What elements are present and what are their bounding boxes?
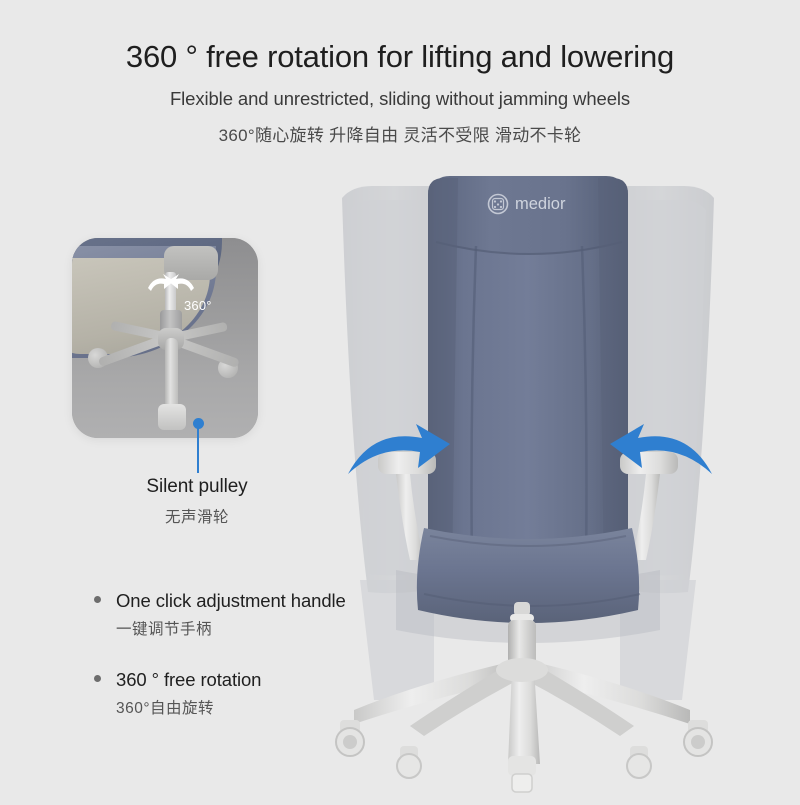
inset-caption-en: Silent pulley [72,476,322,498]
dual-rotation-arrows-icon [144,274,198,300]
subtitle-cn: 360°随心旋转 升降自由 灵活不受限 滑动不卡轮 [0,121,800,146]
caster [684,720,712,756]
rotation-degree-label: 360° [184,298,212,313]
page-title: 360 ° free rotation for lifting and lowe… [0,38,800,75]
feature-label-cn: 一键调节手柄 [116,617,394,639]
callout-line [197,428,199,473]
feature-label-en: One click adjustment handle [116,590,346,612]
bullet-dot-icon [94,675,101,682]
brand-name: medior [515,195,566,213]
callout-dot-icon [193,418,204,429]
chair-backrest [428,173,628,583]
header: 360 ° free rotation for lifting and lowe… [0,0,800,146]
headrest-cushion [434,176,622,255]
caster [627,746,651,778]
caster [508,756,536,792]
inset-caption: Silent pulley 无声滑轮 [72,476,322,527]
inset-highlighted-caster [158,404,186,430]
feature-item: One click adjustment handle 一键调节手柄 [94,590,394,639]
caster [397,746,421,778]
feature-label-cn: 360°自由旋转 [116,696,394,718]
inset-caption-cn: 无声滑轮 [72,505,322,527]
feature-label-en: 360 ° free rotation [116,669,261,691]
feature-item: 360 ° free rotation 360°自由旋转 [94,669,394,718]
detail-inset-panel: 360° [72,238,258,438]
bullet-dot-icon [94,596,101,603]
inset-front-arm [165,338,178,410]
feature-list: One click adjustment handle 一键调节手柄 360 °… [94,590,394,748]
subtitle-en: Flexible and unrestricted, sliding witho… [0,88,800,110]
